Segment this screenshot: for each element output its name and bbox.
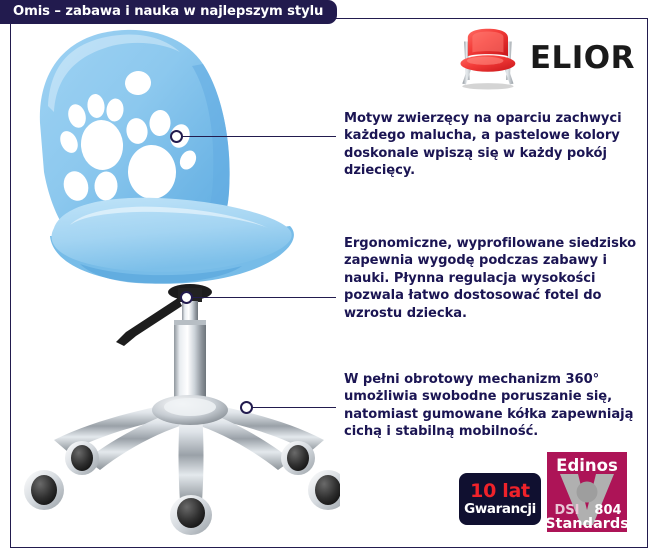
- header-tab: Omis – zabawa i nauka w najlepszym stylu: [0, 0, 337, 24]
- page-title: Omis – zabawa i nauka w najlepszym stylu: [13, 5, 323, 18]
- gas-lift-column: [116, 284, 212, 407]
- warranty-label: Gwarancji: [464, 502, 536, 516]
- red-chair-icon: [455, 22, 521, 94]
- feature-text-seat-height: Ergonomiczne, wyprofilowane siedzisko za…: [344, 235, 644, 322]
- chair-seat: [50, 198, 294, 284]
- edinos-badge-icon: Edinos DSI 804 Standards: [547, 452, 627, 532]
- feature-text-swivel-base: W pełni obrotowy mechanizm 360° umożliwi…: [344, 371, 644, 441]
- brand-logo: ELIOR: [455, 22, 635, 94]
- feature-text-backrest: Motyw zwierzęcy na oparciu zachwyci każd…: [344, 110, 644, 180]
- brand-name: ELIOR: [530, 43, 635, 74]
- product-photo: [10, 20, 340, 535]
- warranty-badge: 10 lat Gwarancji: [459, 473, 541, 525]
- height-lever: [116, 298, 182, 346]
- certificate-standard-label: Standards: [547, 516, 627, 532]
- warranty-years: 10 lat: [470, 482, 530, 501]
- certificate-brand: Edinos: [556, 456, 618, 475]
- chair-illustration: [10, 20, 340, 535]
- infographic-page: Motyw zwierzęcy na oparciu zachwyci każd…: [0, 0, 650, 550]
- certificate-badge: Edinos DSI 804 Standards: [547, 452, 627, 532]
